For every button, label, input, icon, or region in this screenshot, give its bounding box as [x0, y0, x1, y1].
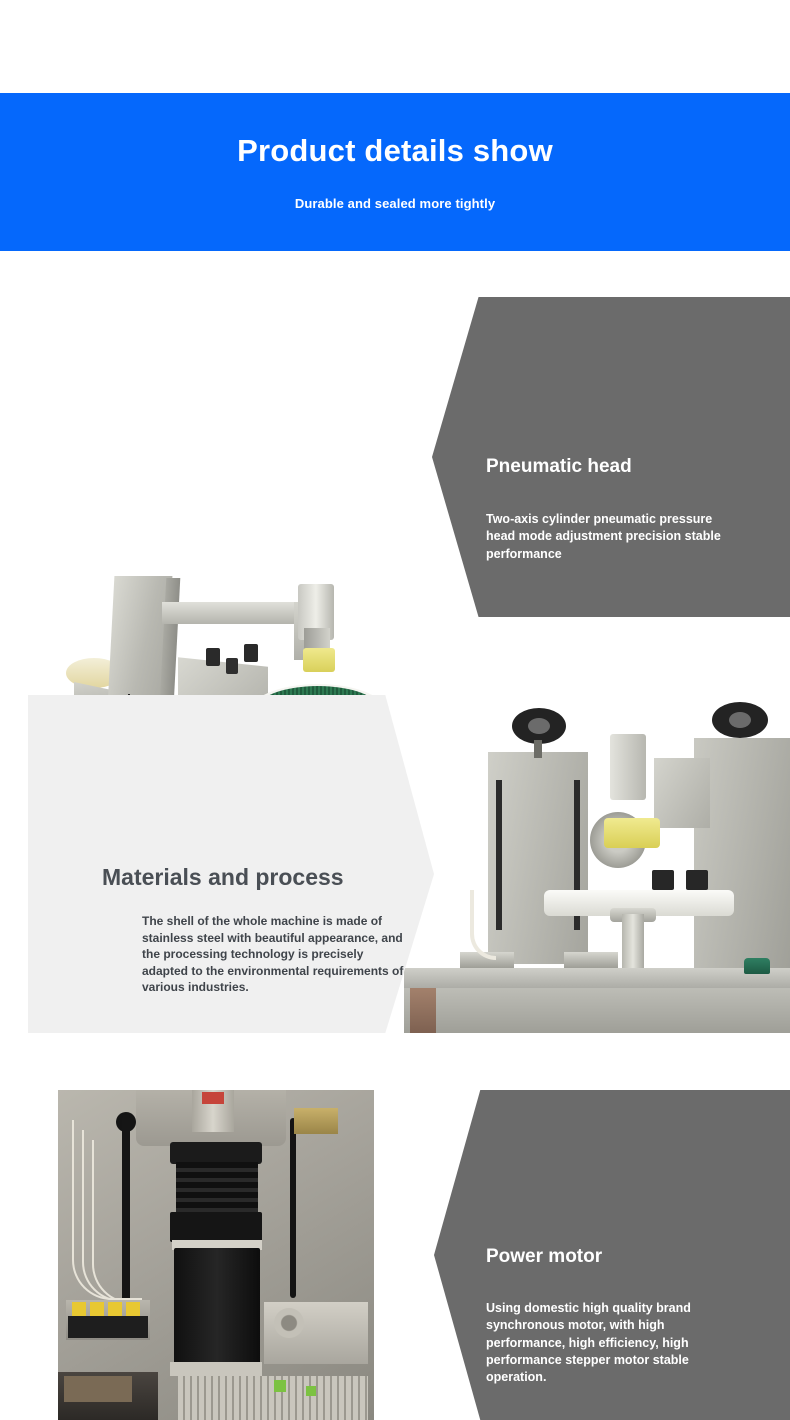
- roller-block: [686, 870, 708, 890]
- power-motor-photo: [58, 1090, 374, 1420]
- motor-ribs: [176, 1162, 258, 1214]
- power-supply-fan: [274, 1308, 304, 1338]
- solenoid-valve: [72, 1302, 86, 1316]
- controller-face: [64, 1376, 132, 1402]
- product-details-page: Product details show Durable and sealed …: [0, 0, 790, 1420]
- cylinder-chuck: [304, 628, 330, 650]
- stainless-bracket: [654, 758, 710, 828]
- section-title: Pneumatic head: [486, 457, 632, 478]
- header-banner: Product details show Durable and sealed …: [0, 93, 790, 251]
- materials-process-text: Materials and process The shell of the w…: [28, 695, 434, 1033]
- section-materials-and-process: Materials and process The shell of the w…: [0, 695, 790, 1035]
- page-title: Product details show: [237, 135, 553, 166]
- terminal-blocks: [178, 1376, 368, 1420]
- section-body: Using domestic high quality brand synchr…: [486, 1300, 742, 1386]
- section-title: Materials and process: [102, 865, 344, 890]
- clamp-block: [564, 952, 618, 968]
- section-pneumatic-head: Pneumatic head Two-axis cylinder pneumat…: [0, 283, 790, 623]
- green-indicator: [274, 1380, 286, 1392]
- solenoid-valve: [90, 1302, 104, 1316]
- motor-top-flange: [170, 1142, 262, 1164]
- red-label: [202, 1092, 224, 1104]
- bench-front: [404, 988, 790, 1033]
- page-subtitle: Durable and sealed more tightly: [295, 196, 495, 211]
- green-cap: [744, 958, 770, 974]
- turntable-stem: [622, 914, 644, 972]
- stepper-motor-body: [174, 1248, 260, 1366]
- section-title: Power motor: [486, 1247, 602, 1268]
- air-tube: [470, 890, 496, 960]
- motor-midsection: [170, 1212, 262, 1242]
- pneumatic-head-text: Pneumatic head Two-axis cylinder pneumat…: [432, 297, 790, 617]
- black-cable: [290, 1118, 296, 1298]
- hand-wheel-hub: [729, 712, 751, 728]
- solenoid-valve: [126, 1302, 140, 1316]
- hand-wheel-hub: [528, 718, 550, 734]
- yellow-cap: [303, 648, 335, 672]
- yellow-cap: [604, 818, 660, 848]
- panel-slot: [496, 780, 502, 930]
- adjust-knob: [244, 644, 258, 662]
- stainless-panel-left: [488, 752, 588, 964]
- materials-process-photo: [404, 700, 790, 1033]
- adjust-knob: [226, 658, 238, 674]
- terminal-breaker: [294, 1108, 338, 1134]
- valve-manifold: [68, 1316, 148, 1338]
- cylinder-column: [610, 734, 646, 800]
- roller-block: [652, 870, 674, 890]
- hand-wheel-shaft: [534, 740, 542, 758]
- bench-top: [404, 968, 790, 990]
- solenoid-valve: [108, 1302, 122, 1316]
- adjust-knob: [206, 648, 220, 666]
- green-indicator: [306, 1386, 316, 1396]
- section-power-motor: Power motor Using domestic high quality …: [0, 1090, 790, 1420]
- section-body: Two-axis cylinder pneumatic pressure hea…: [486, 511, 738, 563]
- section-body: The shell of the whole machine is made o…: [142, 913, 404, 996]
- motor-base: [170, 1362, 262, 1376]
- power-motor-text: Power motor Using domestic high quality …: [434, 1090, 790, 1420]
- air-tube-bundle: [92, 1140, 146, 1304]
